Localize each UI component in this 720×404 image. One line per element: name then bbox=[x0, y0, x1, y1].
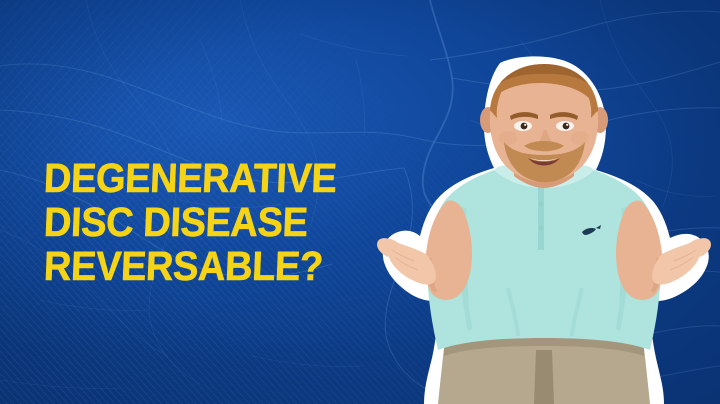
subject-cutout bbox=[368, 58, 720, 404]
title-line-2: DISC DISEASE bbox=[43, 200, 361, 244]
title-line-3: REVERSABLE? bbox=[43, 244, 361, 288]
title-block: DEGENERATIVE DISC DISEASE REVERSABLE? bbox=[44, 156, 384, 288]
title-line-1: DEGENERATIVE bbox=[43, 156, 361, 200]
subject-head bbox=[490, 64, 598, 182]
video-thumbnail: DEGENERATIVE DISC DISEASE REVERSABLE? bbox=[0, 0, 720, 404]
subject-pants bbox=[438, 336, 650, 404]
